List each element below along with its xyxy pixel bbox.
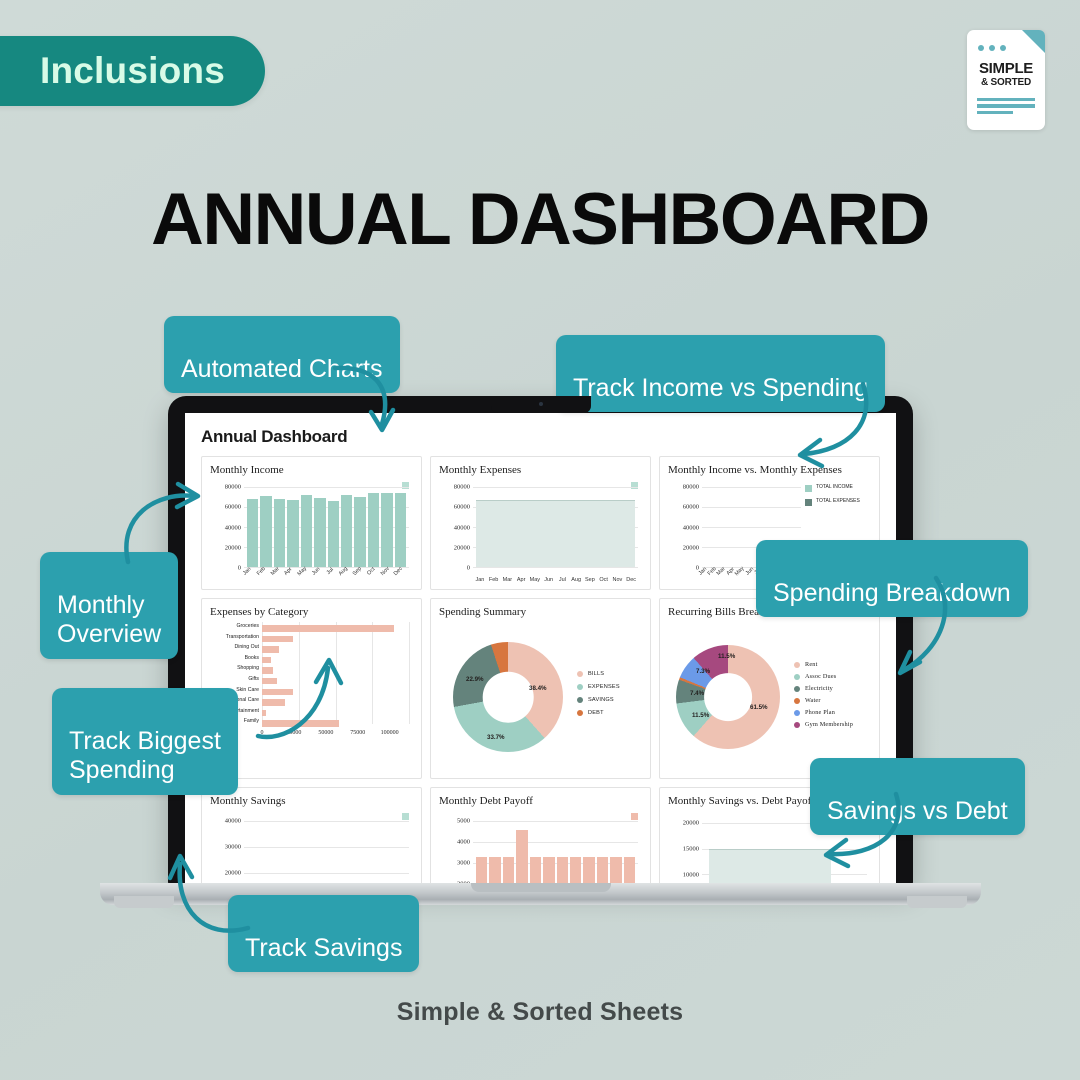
bar — [354, 497, 365, 568]
axis-tick-label: 100000 — [381, 730, 399, 736]
laptop-camera-notch — [491, 396, 591, 413]
legend-swatch — [577, 684, 583, 690]
axis-tick-label: 80000 — [683, 484, 702, 491]
axis-tick-label: 20000 — [683, 820, 702, 827]
axis-tick-label: Feb — [487, 577, 501, 583]
card-spending-summary[interactable]: Spending Summary BILLSEXPENSESSAVINGSDEB… — [430, 598, 651, 779]
bar — [328, 501, 339, 567]
axis-tick-label: 60000 — [225, 504, 244, 511]
bar — [247, 499, 258, 567]
page-title: ANNUAL DASHBOARD — [0, 178, 1080, 261]
legend-swatch — [794, 662, 800, 668]
legend-swatch — [794, 710, 800, 716]
legend-swatch — [794, 686, 800, 692]
axis-tick-label: Dec — [392, 564, 413, 585]
legend-label: DEBT — [588, 710, 604, 716]
axis-tick-label: 75000 — [350, 730, 365, 736]
legend-swatch — [805, 499, 812, 506]
legend-item: Water — [794, 697, 853, 704]
legend-label: Water — [805, 697, 821, 704]
axis-tick-label: Dec — [624, 577, 638, 583]
legend-swatch — [794, 722, 800, 728]
legend-swatch — [794, 698, 800, 704]
bar — [395, 493, 406, 568]
bar — [301, 495, 312, 567]
axis-tick-label: 60000 — [454, 504, 473, 511]
legend-item: Gym Membership — [794, 721, 853, 728]
axis-tick-label: Transportation — [226, 634, 262, 640]
bar-row: Groceries — [262, 624, 405, 633]
axis-tick-label: 3000 — [457, 860, 473, 867]
chart-title-monthly-debt-payoff: Monthly Debt Payoff — [439, 795, 642, 807]
card-monthly-income[interactable]: Monthly Income 020000400006000080000 Jan… — [201, 456, 422, 590]
pie-slice-label: 11.5% — [692, 712, 709, 719]
arrow-savings-vs-debt — [800, 790, 910, 880]
chart-monthly-expenses: 020000400006000080000 JanFebMarAprMayJun… — [439, 480, 642, 583]
axis-tick-label: Jul — [556, 577, 570, 583]
axis-tick-label: 4000 — [457, 839, 473, 846]
inclusions-badge-label: Inclusions — [40, 50, 225, 92]
legend-item: DEBT — [577, 710, 620, 716]
bar-series — [473, 813, 638, 887]
legend-item: Assoc Dues — [794, 673, 853, 680]
legend-recurring-bills: RentAssoc DuesElectricityWaterPhone Plan… — [794, 661, 853, 733]
legend-label: Rent — [805, 661, 818, 668]
dots-icon — [978, 45, 1006, 51]
axis-tick-label: 0 — [467, 565, 473, 572]
bar — [516, 830, 527, 887]
logo-line-1: SIMPLE — [967, 60, 1045, 77]
bar — [262, 636, 293, 643]
legend-item: SAVINGS — [577, 697, 620, 703]
axis-tick-label: 5000 — [457, 818, 473, 825]
legend-item: EXPENSES — [577, 684, 620, 690]
axis-tick-label: 40000 — [454, 524, 473, 531]
arrow-automated-charts — [330, 360, 420, 445]
axis-tick-label: 40000 — [225, 524, 244, 531]
axis-tick-label: Jun — [542, 577, 556, 583]
callout-track-biggest-spending[interactable]: Track Biggest Spending — [52, 688, 238, 795]
chart-legend: TOTAL INCOMETOTAL EXPENSES — [805, 484, 869, 512]
arrow-monthly-overview — [118, 470, 208, 570]
legend-label: EXPENSES — [588, 684, 620, 690]
gridline — [409, 622, 410, 724]
bar — [260, 496, 271, 567]
callout-label: Track Biggest Spending — [69, 727, 221, 785]
dashboard-row-3: Monthly Savings 10000200003000040000 Mon… — [201, 787, 880, 887]
pie-slice-label: 7.4% — [690, 690, 704, 697]
legend-item: BILLS — [577, 671, 620, 677]
arrow-track-savings — [168, 848, 258, 938]
legend-swatch — [794, 674, 800, 680]
chart-spending-summary: BILLSEXPENSESSAVINGSDEBT 38.4%33.7%22.9% — [439, 622, 642, 772]
legend-label: Electricity — [805, 685, 833, 692]
chart-recurring-bills: RentAssoc DuesElectricityWaterPhone Plan… — [668, 622, 871, 772]
bar — [262, 625, 394, 632]
axis-tick-label: Oct — [597, 577, 611, 583]
legend-swatch — [577, 671, 583, 677]
bar — [368, 493, 379, 568]
arrow-track-biggest-spending — [252, 648, 352, 743]
axis-tick-label: Aug — [569, 577, 583, 583]
legend-label: BILLS — [588, 671, 604, 677]
legend-label: Assoc Dues — [805, 673, 836, 680]
camera-icon — [539, 402, 543, 406]
bar — [287, 500, 298, 567]
axis-tick-label: Jan — [473, 577, 487, 583]
gridline: 80000 — [473, 487, 638, 488]
axis-tick-label: 80000 — [225, 484, 244, 491]
gridline: 20000 — [244, 873, 409, 874]
bar-series — [244, 482, 409, 567]
chart-monthly-debt-payoff: 10002000300040005000 — [439, 811, 642, 887]
chart-title-spending-summary: Spending Summary — [439, 606, 642, 618]
donut-spending-summary — [453, 642, 563, 752]
area-series — [476, 500, 634, 567]
axis-tick-label: Sep — [583, 577, 597, 583]
legend-item: TOTAL INCOME — [805, 484, 869, 492]
bar — [274, 499, 285, 567]
chart-monthly-income: 020000400006000080000 JanFebMarAprMayJun… — [210, 480, 413, 583]
legend-item: Phone Plan — [794, 709, 853, 716]
legend-swatch — [577, 697, 583, 703]
laptop-foot-left — [114, 896, 174, 908]
bar — [341, 495, 352, 567]
axis-tick-label: Groceries — [237, 623, 263, 629]
pie-slice-label: 11.5% — [718, 653, 735, 660]
axis-tick-label: Nov — [611, 577, 625, 583]
legend-item: Rent — [794, 661, 853, 668]
bar-row: Transportation — [262, 635, 405, 644]
pie-slice-label: 33.7% — [487, 734, 505, 741]
pie-slice-label: 61.5% — [750, 704, 768, 711]
axis-tick-label: 15000 — [683, 845, 702, 852]
chart-title-expenses-by-category: Expenses by Category — [210, 606, 413, 618]
pie-slice-label: 7.3% — [696, 668, 710, 675]
chart-title-monthly-income: Monthly Income — [210, 464, 413, 476]
legend-label: Phone Plan — [805, 709, 835, 716]
axis-tick-label: 40000 — [225, 817, 244, 824]
callout-label: Track Savings — [245, 934, 402, 962]
chart-title-monthly-expenses: Monthly Expenses — [439, 464, 642, 476]
legend-swatch — [577, 710, 583, 716]
axis-tick-label: 40000 — [683, 524, 702, 531]
legend-swatch — [805, 485, 812, 492]
logo-line-2: & SORTED — [967, 77, 1045, 88]
logo-ruled-lines-icon — [977, 98, 1035, 118]
bar — [381, 493, 392, 568]
legend-label: TOTAL INCOME — [816, 484, 853, 490]
donut-recurring-bills — [676, 645, 780, 749]
inclusions-badge: Inclusions — [0, 36, 265, 106]
axis-tick-label: 20000 — [683, 544, 702, 551]
legend-label: SAVINGS — [588, 697, 614, 703]
gridline: 40000 — [244, 821, 409, 822]
pie-slice-label: 22.9% — [466, 676, 484, 683]
axis-tick-label: 60000 — [683, 504, 702, 511]
arrow-track-income-vs-spending — [770, 378, 880, 468]
card-monthly-debt-payoff[interactable]: Monthly Debt Payoff 10002000300040005000 — [430, 787, 651, 887]
axis-tick-label: Apr — [514, 577, 528, 583]
axis-tick-label: 10000 — [683, 871, 702, 878]
legend-label: TOTAL EXPENSES — [816, 498, 860, 504]
gridline: 0 — [473, 567, 638, 568]
arrow-spending-breakdown — [880, 572, 960, 682]
legend-spending-summary: BILLSEXPENSESSAVINGSDEBT — [577, 671, 620, 723]
footer-brand: Simple & Sorted Sheets — [0, 998, 1080, 1027]
legend-label: Gym Membership — [805, 721, 853, 728]
axis-tick-label: 80000 — [454, 484, 473, 491]
simple-and-sorted-logo: SIMPLE & SORTED — [967, 30, 1045, 130]
card-recurring-bills[interactable]: Recurring Bills Breakdown RentAssoc Dues… — [659, 598, 880, 779]
chart-title-monthly-savings: Monthly Savings — [210, 795, 413, 807]
card-monthly-expenses[interactable]: Monthly Expenses 020000400006000080000 J… — [430, 456, 651, 590]
axis-tick-label: May — [528, 577, 542, 583]
legend-item: Electricity — [794, 685, 853, 692]
bar — [314, 498, 325, 567]
legend-item: TOTAL EXPENSES — [805, 498, 869, 506]
laptop-foot-right — [907, 896, 967, 908]
pie-slice-label: 38.4% — [529, 685, 547, 692]
axis-tick-label: Mar — [501, 577, 515, 583]
gridline: 30000 — [244, 847, 409, 848]
axis-tick-label: 20000 — [225, 544, 244, 551]
callout-label: Monthly Overview — [57, 591, 161, 649]
axis-tick-label: 20000 — [454, 544, 473, 551]
